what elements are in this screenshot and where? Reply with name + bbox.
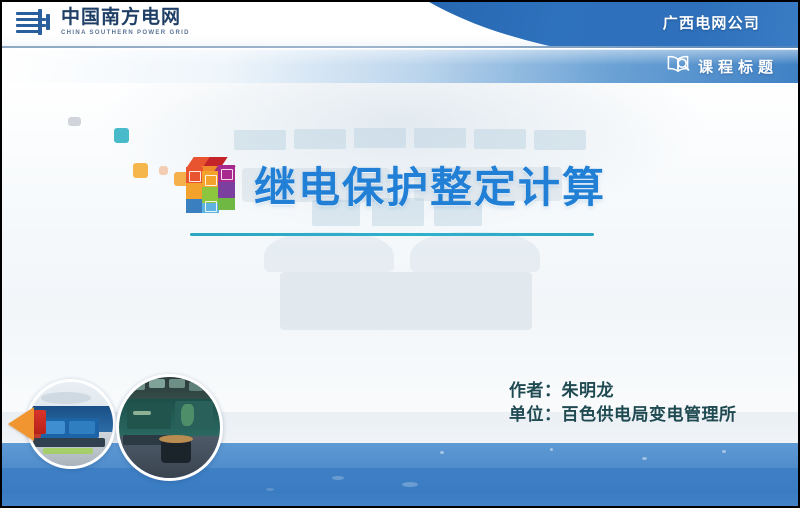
author-unit-line: 单位：百色供电局变电管理所 <box>509 403 737 427</box>
logo-english-name: CHINA SOUTHERN POWER GRID <box>61 30 190 36</box>
title-underline <box>190 233 594 236</box>
slide-title: 继电保护整定计算 <box>254 154 606 215</box>
background-screen <box>474 129 526 149</box>
author-name-line: 作者：朱明龙 <box>509 379 737 403</box>
background-screen <box>534 130 586 150</box>
decor-square-orange <box>133 163 148 178</box>
course-title-label: 课程标题 <box>698 56 778 77</box>
presentation-slide: 中国南方电网 CHINA SOUTHERN POWER GRID 广西电网公司 … <box>0 0 800 508</box>
background-screen <box>294 129 346 149</box>
book-search-icon <box>665 54 691 79</box>
decor-square-teal <box>114 128 129 143</box>
decor-square-peach <box>159 166 168 175</box>
author-block: 作者：朱明龙 单位：百色供电局变电管理所 <box>509 379 737 427</box>
background-screen <box>414 128 466 148</box>
color-cube-icon <box>184 157 236 213</box>
background-desk <box>410 232 540 272</box>
decor-square-grey <box>68 117 81 126</box>
course-title-band: 课程标题 <box>2 49 800 83</box>
background-desk <box>264 232 394 272</box>
csg-grid-logo-icon <box>16 9 52 35</box>
background-desk-front <box>280 272 532 330</box>
logo-chinese-name: 中国南方电网 <box>61 8 190 27</box>
control-room-photo-2 <box>116 374 223 481</box>
header-divider <box>2 46 800 48</box>
background-screen <box>234 130 286 150</box>
background-screen <box>354 128 406 148</box>
company-name: 广西电网公司 <box>663 12 760 33</box>
orange-arrow-cursor <box>8 407 34 441</box>
csg-logo: 中国南方电网 CHINA SOUTHERN POWER GRID <box>16 8 190 36</box>
